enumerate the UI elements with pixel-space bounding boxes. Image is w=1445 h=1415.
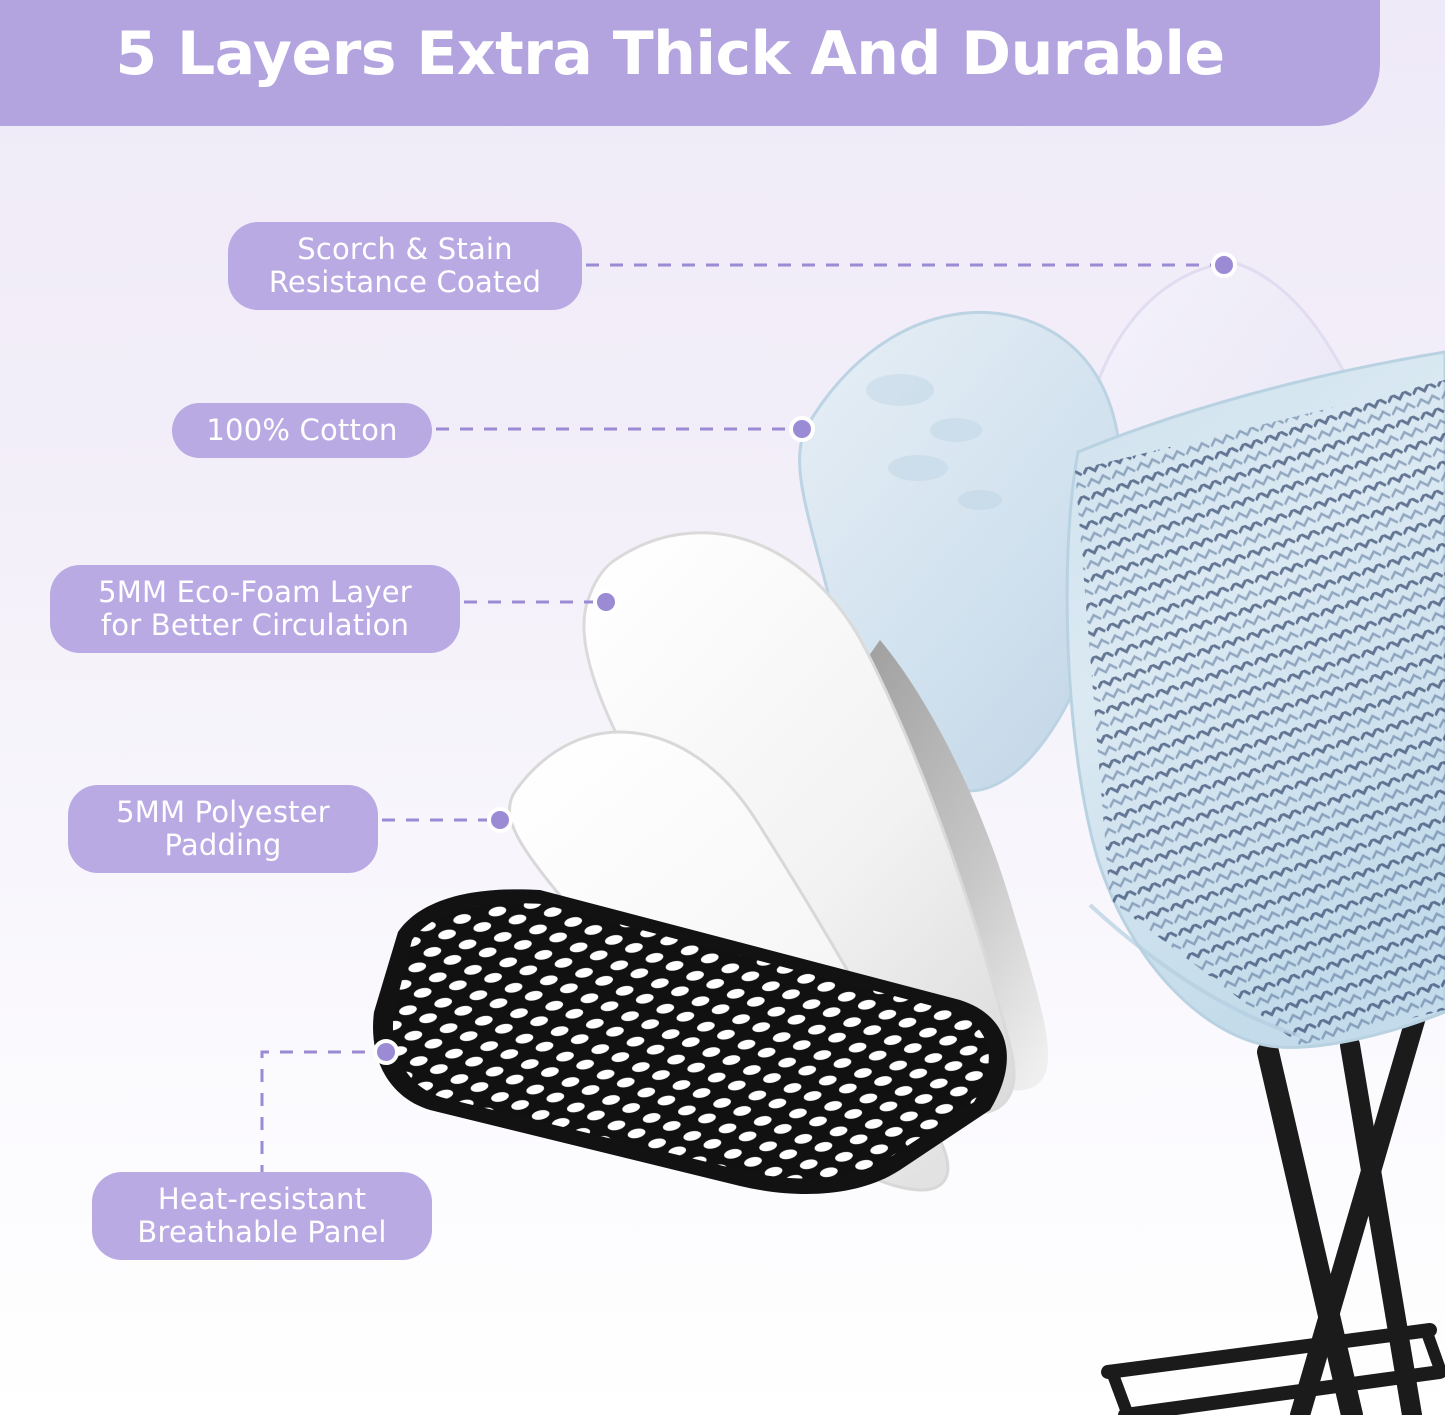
anchor-dot-polyester-padding bbox=[489, 809, 511, 831]
header-banner: 5 Layers Extra Thick And Durable bbox=[0, 0, 1380, 126]
board-frame bbox=[1108, 1010, 1441, 1415]
anchor-dot-breathable-panel bbox=[375, 1041, 397, 1063]
board-cover bbox=[1060, 350, 1445, 1070]
callout-polyester-padding: 5MM Polyester Padding bbox=[68, 785, 378, 873]
leader-breathable-panel bbox=[262, 1052, 382, 1178]
anchor-dot-cotton bbox=[791, 418, 813, 440]
anchor-dot-scorch-stain bbox=[1213, 254, 1235, 276]
callout-cotton: 100% Cotton bbox=[172, 403, 432, 458]
page-title: 5 Layers Extra Thick And Durable bbox=[0, 0, 1340, 110]
callout-eco-foam: 5MM Eco-Foam Layer for Better Circulatio… bbox=[50, 565, 460, 653]
callout-breathable-panel: Heat-resistant Breathable Panel bbox=[92, 1172, 432, 1260]
callout-scorch-stain: Scorch & Stain Resistance Coated bbox=[228, 222, 582, 310]
product-infographic: 5 Layers Extra Thick And Durable Scorch … bbox=[0, 0, 1445, 1415]
anchor-dot-eco-foam bbox=[595, 591, 617, 613]
